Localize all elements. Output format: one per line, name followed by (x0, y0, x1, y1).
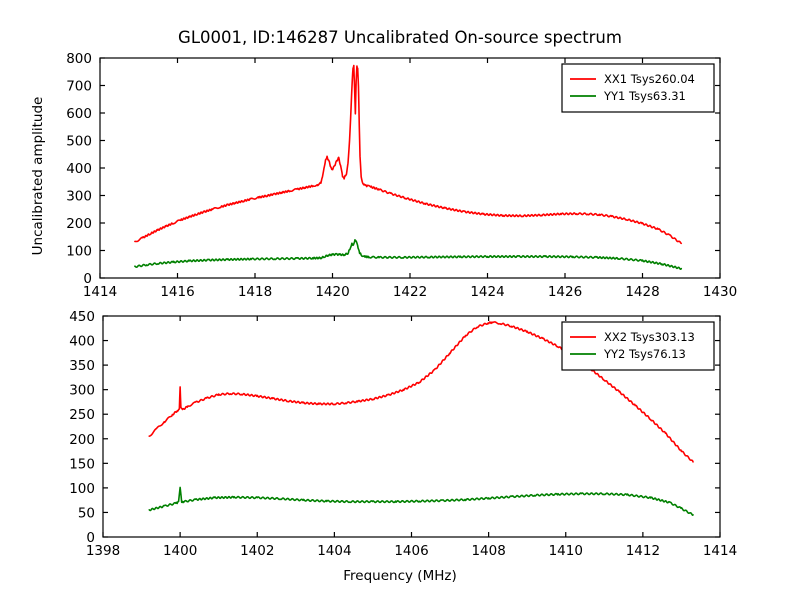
x-tick-label: 1420 (315, 284, 349, 300)
y-tick-label: 400 (66, 161, 92, 177)
y-tick-label: 0 (86, 530, 95, 546)
x-tick-label: 1424 (470, 284, 504, 300)
y-tick-label: 50 (78, 505, 95, 521)
x-tick-label: 1400 (163, 543, 197, 559)
figure-canvas: GL0001, ID:146287 Uncalibrated On-source… (0, 0, 800, 600)
y-tick-label: 200 (66, 216, 92, 232)
x-tick-label: 1426 (548, 284, 582, 300)
x-tick-label: 1416 (160, 284, 194, 300)
x-tick-label: 1430 (703, 284, 737, 300)
y-tick-label: 100 (66, 244, 92, 260)
x-tick-label: 1428 (625, 284, 659, 300)
y-tick-label: 450 (69, 309, 95, 325)
y-tick-label: 250 (69, 407, 95, 423)
data-series-line (149, 487, 693, 515)
y-tick-label: 150 (69, 456, 95, 472)
y-tick-label: 600 (66, 106, 92, 122)
x-tick-label: 1404 (317, 543, 351, 559)
x-tick-label: 1410 (549, 543, 583, 559)
bottom-panel-axes: 1398140014021404140614081410141214140501… (69, 309, 737, 559)
y-tick-label: 500 (66, 134, 92, 150)
x-tick-label: 1422 (393, 284, 427, 300)
legend-label: YY2 Tsys76.13 (603, 347, 686, 361)
y-tick-label: 300 (69, 383, 95, 399)
x-tick-label: 1402 (240, 543, 274, 559)
legend-label: XX2 Tsys303.13 (604, 330, 695, 344)
y-tick-label: 100 (69, 481, 95, 497)
legend-label: YY1 Tsys63.31 (603, 89, 686, 103)
y-tick-label: 700 (66, 79, 92, 95)
y-tick-label: 300 (66, 189, 92, 205)
top-panel-axes: 1414141614181420142214241426142814300100… (66, 51, 737, 300)
data-series-line (135, 240, 681, 269)
x-tick-label: 1408 (471, 543, 505, 559)
x-tick-label: 1414 (703, 543, 737, 559)
x-tick-label: 1412 (626, 543, 660, 559)
y-tick-label: 350 (69, 358, 95, 374)
y-tick-label: 400 (69, 334, 95, 350)
y-tick-label: 200 (69, 432, 95, 448)
plot-area: 1414141614181420142214241426142814300100… (0, 0, 800, 600)
x-tick-label: 1406 (394, 543, 428, 559)
y-tick-label: 800 (66, 51, 92, 67)
legend-label: XX1 Tsys260.04 (604, 72, 695, 86)
y-tick-label: 0 (83, 271, 92, 287)
x-tick-label: 1418 (238, 284, 272, 300)
